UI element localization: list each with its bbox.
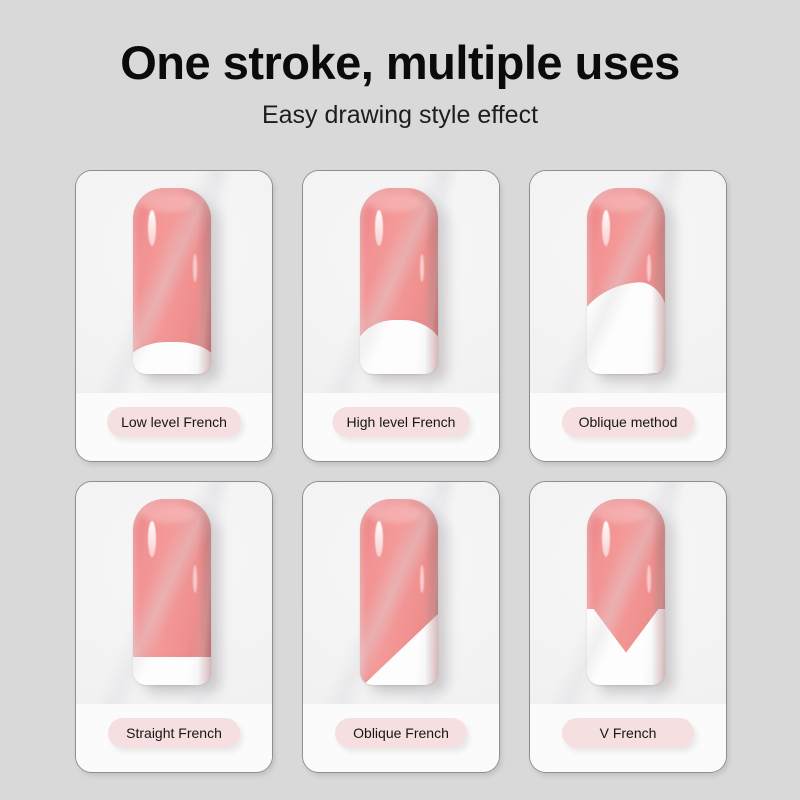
nail-style-card-straight-french[interactable]: Straight French — [75, 481, 273, 773]
nail-french-tip — [587, 280, 665, 374]
nail-swatch-icon — [133, 188, 211, 376]
nail-caption-area: Low level French — [76, 393, 272, 460]
nail-swatch-icon — [133, 499, 211, 687]
nail-highlight — [375, 521, 383, 557]
nail-highlight — [148, 521, 156, 557]
nail-side-highlight — [647, 565, 651, 593]
nail-french-tip — [360, 591, 438, 685]
nail-body — [133, 188, 211, 374]
nail-caption-area: Oblique method — [530, 393, 726, 460]
nail-style-badge[interactable]: V French — [562, 718, 694, 748]
nail-side-highlight — [420, 254, 424, 282]
nail-photo — [530, 171, 726, 393]
nail-highlight — [148, 210, 156, 246]
nail-top-gloss — [141, 503, 195, 523]
nail-french-tip — [360, 320, 438, 374]
nail-side-highlight — [647, 254, 651, 282]
nail-style-card-oblique-french[interactable]: Oblique French — [302, 481, 500, 773]
nail-style-card-oblique-method[interactable]: Oblique method — [529, 170, 727, 462]
nail-swatch-icon — [360, 499, 438, 687]
nail-side-highlight — [193, 565, 197, 593]
nail-body — [360, 499, 438, 685]
nail-side-highlight — [420, 565, 424, 593]
nail-style-grid: Low level FrenchHigh level FrenchOblique… — [75, 170, 725, 771]
nail-highlight — [602, 521, 610, 557]
nail-french-tip — [133, 657, 211, 685]
page-title: One stroke, multiple uses — [0, 0, 800, 87]
nail-side-highlight — [193, 254, 197, 282]
nail-body — [587, 499, 665, 685]
nail-top-gloss — [368, 503, 422, 523]
nail-style-badge[interactable]: Straight French — [108, 718, 240, 748]
nail-top-gloss — [368, 192, 422, 212]
nail-swatch-icon — [587, 499, 665, 687]
nail-photo — [530, 482, 726, 704]
nail-photo — [76, 482, 272, 704]
nail-french-tip — [133, 342, 211, 374]
page-header: One stroke, multiple uses Easy drawing s… — [0, 0, 800, 130]
nail-top-gloss — [595, 192, 649, 212]
nail-style-card-v-french[interactable]: V French — [529, 481, 727, 773]
nail-style-badge[interactable]: Oblique method — [562, 407, 694, 437]
nail-caption-area: Straight French — [76, 704, 272, 771]
nail-top-gloss — [595, 503, 649, 523]
nail-highlight — [602, 210, 610, 246]
nail-style-badge[interactable]: High level French — [333, 407, 470, 437]
promo-page: One stroke, multiple uses Easy drawing s… — [0, 0, 800, 800]
nail-style-card-high-level-french[interactable]: High level French — [302, 170, 500, 462]
nail-style-badge[interactable]: Oblique French — [335, 718, 467, 748]
nail-photo — [303, 171, 499, 393]
nail-photo — [303, 482, 499, 704]
page-subtitle: Easy drawing style effect — [0, 87, 800, 130]
nail-caption-area: High level French — [303, 393, 499, 460]
nail-caption-area: V French — [530, 704, 726, 771]
nail-highlight — [375, 210, 383, 246]
nail-swatch-icon — [360, 188, 438, 376]
nail-swatch-icon — [587, 188, 665, 376]
nail-style-badge[interactable]: Low level French — [107, 407, 241, 437]
nail-photo — [76, 171, 272, 393]
nail-caption-area: Oblique French — [303, 704, 499, 771]
nail-style-card-low-level-french[interactable]: Low level French — [75, 170, 273, 462]
nail-top-gloss — [141, 192, 195, 212]
nail-body — [587, 188, 665, 374]
nail-french-tip — [587, 609, 665, 685]
nail-body — [360, 188, 438, 374]
nail-body — [133, 499, 211, 685]
